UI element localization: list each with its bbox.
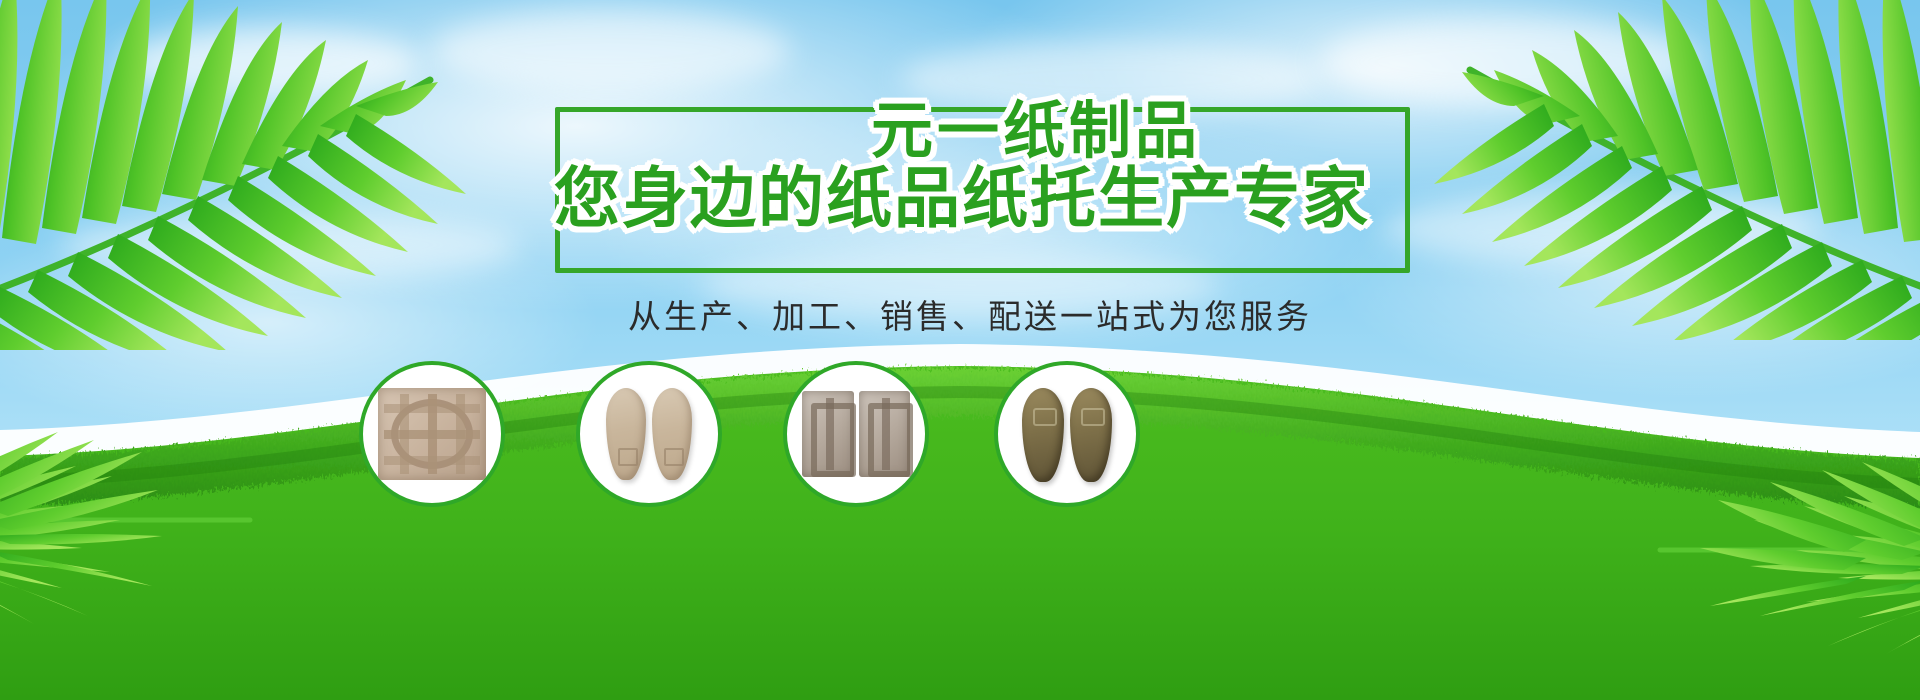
product-thumb-1	[378, 388, 486, 480]
pulp-corner-protectors-icon	[802, 388, 910, 480]
product-circle-3[interactable]	[783, 361, 929, 507]
product-circle-1[interactable]	[359, 361, 505, 507]
subtitle-text: 从生产、加工、销售、配送一站式为您服务	[10, 290, 1920, 338]
product-thumb-2	[595, 388, 703, 480]
paper-insole-pair-icon	[595, 388, 703, 480]
product-thumb-4	[1013, 388, 1121, 480]
product-thumb-3	[802, 388, 910, 480]
product-circle-2[interactable]	[576, 361, 722, 507]
promo-banner: 元一纸制品 您身边的纸品纸托生产专家 从生产、加工、销售、配送一站式为您服务	[0, 0, 1920, 700]
dark-insole-pair-icon	[1013, 388, 1121, 480]
molded-pulp-tray-icon	[378, 388, 486, 480]
main-slogan: 您身边的纸品纸托生产专家	[2, 145, 1920, 241]
product-circle-4[interactable]	[994, 361, 1140, 507]
